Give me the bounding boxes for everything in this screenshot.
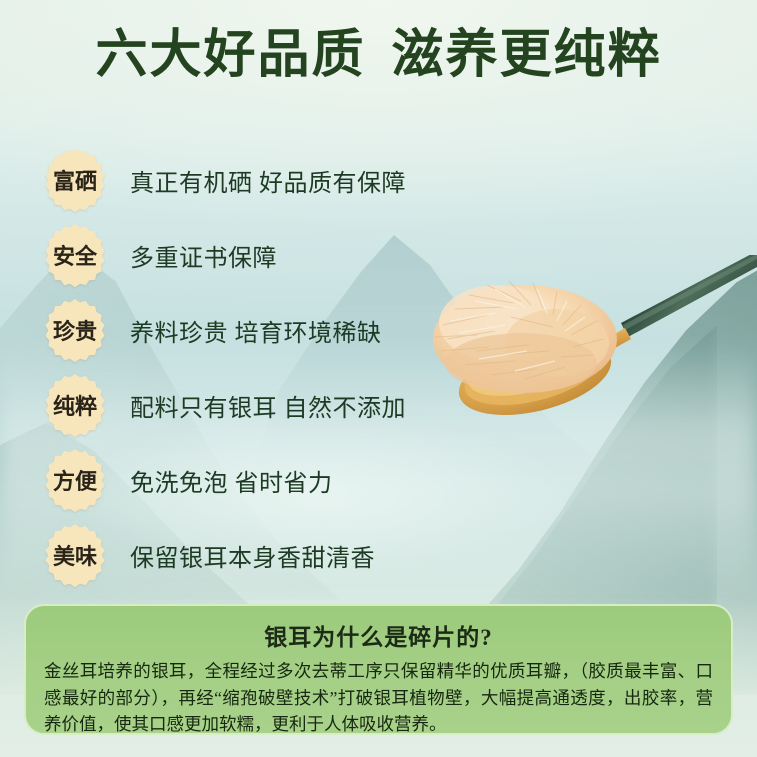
feature-badge-label: 纯粹 xyxy=(53,389,97,421)
info-card: 银耳为什么是碎片的? 金丝耳培养的银耳，全程经过多次去蒂工序只保留精华的优质耳瓣… xyxy=(24,604,733,735)
info-card-title: 银耳为什么是碎片的? xyxy=(44,618,713,652)
page-title: 六大好品质滋养更纯粹 xyxy=(0,26,757,86)
feature-row: 美味 保留银耳本身香甜清香 xyxy=(42,518,602,592)
feature-list: 富硒 真正有机硒 好品质有保障 安全 多重证书保障 珍贵 养料珍贵 培育环境稀缺 xyxy=(42,143,602,593)
feature-badge-label: 安全 xyxy=(53,239,97,271)
info-card-body: 金丝耳培养的银耳，全程经过多次去蒂工序只保留精华的优质耳瓣，（胶质最丰富、口感最… xyxy=(44,658,713,738)
feature-text: 免洗免泡 省时省力 xyxy=(130,463,333,498)
feature-text: 养料珍贵 培育环境稀缺 xyxy=(130,313,382,348)
feature-badge-label: 珍贵 xyxy=(53,314,97,346)
feature-badge: 安全 xyxy=(42,222,108,288)
feature-badge-label: 富硒 xyxy=(53,164,97,196)
feature-row: 安全 多重证书保障 xyxy=(42,218,602,292)
feature-badge-label: 方便 xyxy=(53,464,97,496)
feature-text: 配料只有银耳 自然不添加 xyxy=(130,388,406,423)
feature-row: 纯粹 配料只有银耳 自然不添加 xyxy=(42,368,602,442)
feature-badge: 富硒 xyxy=(42,147,108,213)
page-title-part1: 六大好品质 xyxy=(95,27,365,84)
feature-text: 多重证书保障 xyxy=(130,238,277,273)
page-title-part2: 滋养更纯粹 xyxy=(392,27,662,84)
feature-badge-label: 美味 xyxy=(53,539,97,571)
feature-badge: 方便 xyxy=(42,447,108,513)
feature-badge: 纯粹 xyxy=(42,372,108,438)
feature-row: 方便 免洗免泡 省时省力 xyxy=(42,443,602,517)
feature-badge: 美味 xyxy=(42,522,108,588)
feature-row: 富硒 真正有机硒 好品质有保障 xyxy=(42,143,602,217)
product-feature-poster: 六大好品质滋养更纯粹 xyxy=(0,0,757,757)
feature-text: 保留银耳本身香甜清香 xyxy=(130,538,375,573)
feature-row: 珍贵 养料珍贵 培育环境稀缺 xyxy=(42,293,602,367)
feature-text: 真正有机硒 好品质有保障 xyxy=(130,163,406,198)
feature-badge: 珍贵 xyxy=(42,297,108,363)
